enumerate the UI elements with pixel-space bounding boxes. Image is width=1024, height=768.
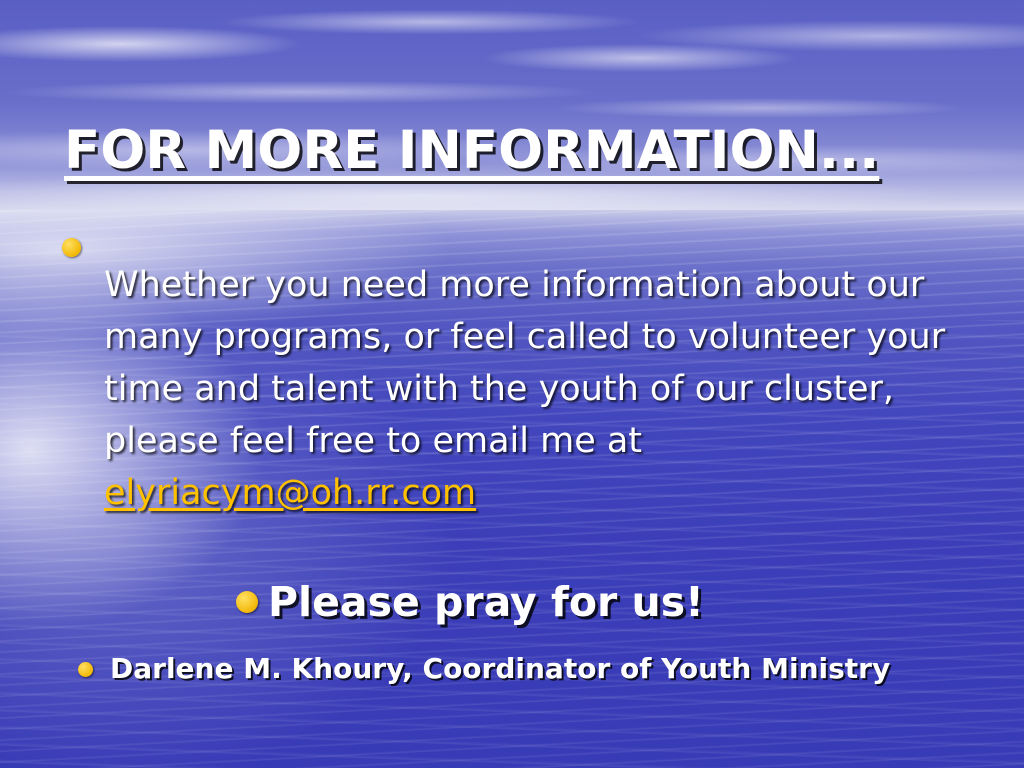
info-paragraph-text: Whether you need more information about … xyxy=(104,265,945,461)
round-bullet-icon xyxy=(236,591,258,613)
slide-title: FOR MORE INFORMATION... xyxy=(64,120,964,181)
round-bullet-icon xyxy=(62,238,81,257)
round-bullet-icon xyxy=(78,662,93,677)
credit-line-text: Darlene M. Khoury, Coordinator of Youth … xyxy=(110,652,890,685)
info-paragraph: Whether you need more information about … xyxy=(104,259,984,519)
slide-content: FOR MORE INFORMATION... Whether you need… xyxy=(0,0,1024,768)
email-link[interactable]: elyriacym@oh.rr.com xyxy=(104,473,476,513)
presentation-slide: FOR MORE INFORMATION... Whether you need… xyxy=(0,0,1024,768)
pray-line-text: Please pray for us! xyxy=(268,578,704,626)
